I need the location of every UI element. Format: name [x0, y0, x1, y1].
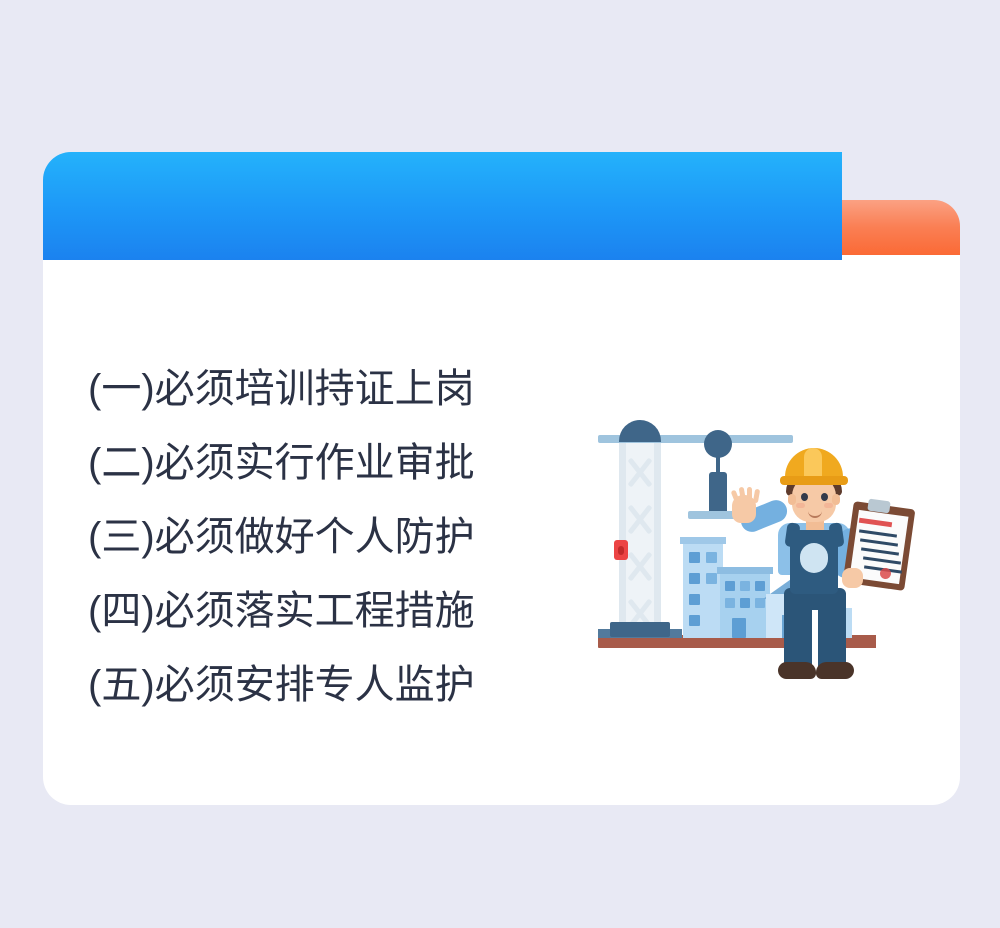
waving-hand-icon: [753, 489, 760, 504]
worker-cheek-icon: [824, 503, 833, 508]
crane-cab-icon: [619, 420, 661, 442]
hard-hat-icon: [780, 476, 848, 485]
overall-pocket-icon: [800, 543, 828, 573]
worker-shoe-icon: [816, 662, 854, 679]
crane-pulley-icon: [704, 430, 732, 458]
red-flag-icon: [618, 546, 624, 555]
list-item: (三)必须做好个人防护: [88, 500, 528, 574]
worker-ear-icon: [788, 494, 796, 505]
orange-tab-accent: [842, 200, 960, 260]
worker-eye-icon: [821, 493, 828, 501]
crane-base-icon: [610, 622, 670, 637]
list-item: (五)必须安排专人监护: [88, 648, 528, 722]
worker-shoe-icon: [778, 662, 816, 679]
building-icon: [680, 537, 726, 544]
construction-illustration: [580, 410, 940, 700]
worker-hand-icon: [842, 568, 863, 588]
worker-legs-icon: [812, 610, 818, 670]
crane-hook-icon: [709, 472, 727, 514]
list-item: (一)必须培训持证上岗: [88, 352, 528, 426]
worker-eye-icon: [801, 493, 808, 501]
requirements-list: (一)必须培训持证上岗 (二)必须实行作业审批 (三)必须做好个人防护 (四)必…: [88, 352, 528, 722]
list-item: (二)必须实行作业审批: [88, 426, 528, 500]
list-item: (四)必须落实工程措施: [88, 574, 528, 648]
building-icon: [717, 567, 773, 574]
worker-ear-icon: [832, 494, 840, 505]
building-icon: [683, 542, 723, 638]
tower-crane-icon: [619, 443, 661, 635]
title-banner: 高处作业“五个必须”: [43, 152, 842, 260]
waving-hand-icon: [747, 487, 752, 503]
worker-cheek-icon: [796, 503, 805, 508]
poster-canvas: 高处作业“五个必须” (一)必须培训持证上岗 (二)必须实行作业审批 (三)必须…: [0, 0, 1000, 928]
